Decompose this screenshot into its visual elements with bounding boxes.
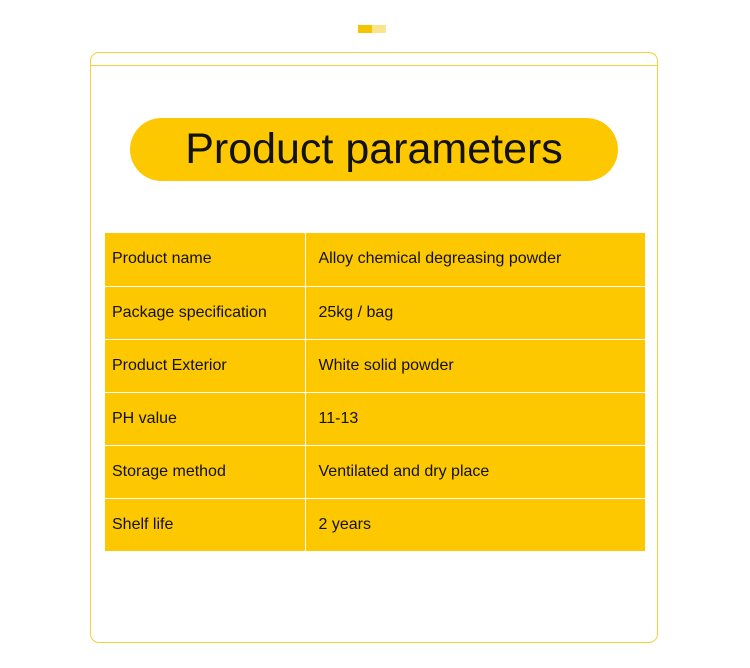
row-value: Alloy chemical degreasing powder	[305, 233, 645, 286]
table-row: Product name Alloy chemical degreasing p…	[105, 233, 645, 286]
row-value: 2 years	[305, 498, 645, 551]
table-row: Package specification 25kg / bag	[105, 286, 645, 339]
top-marker-left-segment	[358, 25, 372, 33]
product-parameters-table: Product name Alloy chemical degreasing p…	[105, 233, 645, 551]
row-label: Product name	[105, 233, 305, 286]
table-row: Shelf life 2 years	[105, 498, 645, 551]
row-label: PH value	[105, 392, 305, 445]
table-body: Product name Alloy chemical degreasing p…	[105, 233, 645, 551]
frame-top-divider	[90, 65, 658, 66]
row-value: 11-13	[305, 392, 645, 445]
row-label: Shelf life	[105, 498, 305, 551]
row-value: White solid powder	[305, 339, 645, 392]
page-title-pill: Product parameters	[130, 118, 618, 181]
table-row: PH value 11-13	[105, 392, 645, 445]
row-value: Ventilated and dry place	[305, 445, 645, 498]
row-label: Package specification	[105, 286, 305, 339]
row-label: Storage method	[105, 445, 305, 498]
top-decorative-marker	[358, 25, 386, 33]
table-row: Storage method Ventilated and dry place	[105, 445, 645, 498]
top-marker-right-segment	[372, 25, 386, 33]
row-label: Product Exterior	[105, 339, 305, 392]
row-value: 25kg / bag	[305, 286, 645, 339]
page-title: Product parameters	[185, 128, 563, 171]
table-row: Product Exterior White solid powder	[105, 339, 645, 392]
